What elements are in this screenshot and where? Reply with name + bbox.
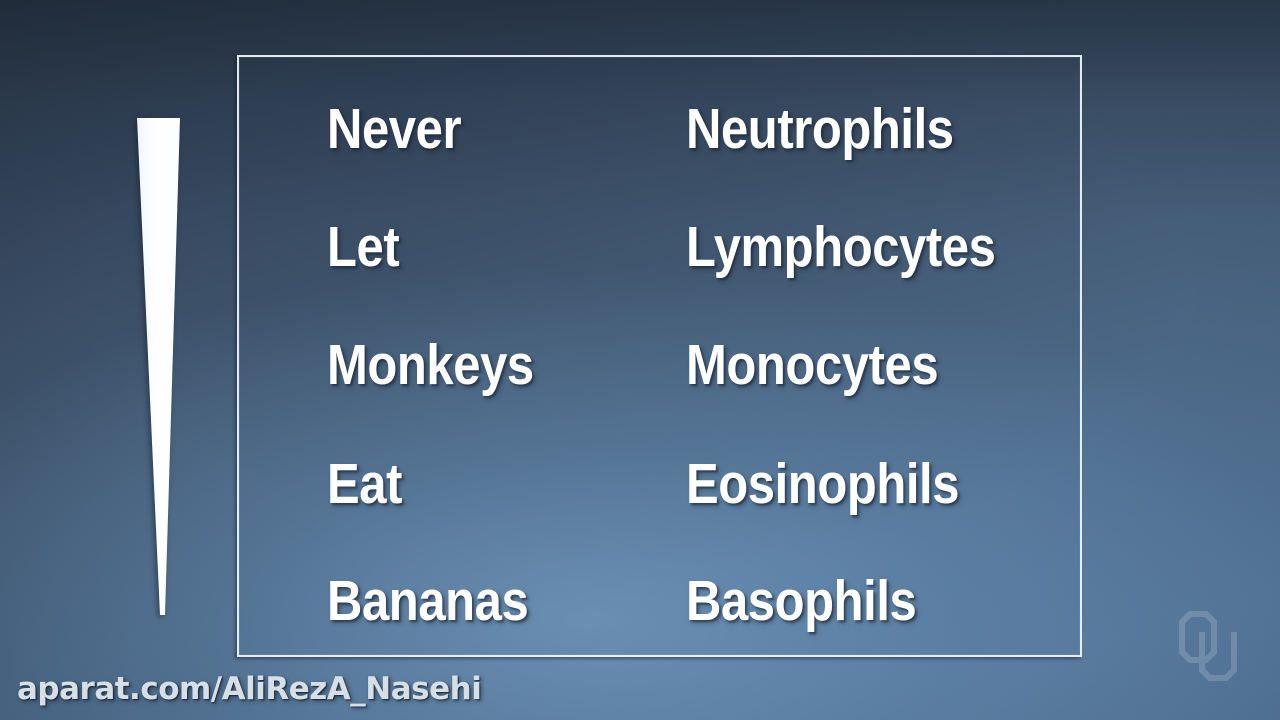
ou-logo-icon [1172, 606, 1244, 686]
table-row: Monkeys Monocytes [0, 334, 1280, 396]
mnemonic-table: Never Neutrophils Let Lymphocytes Monkey… [0, 0, 1280, 720]
cell-type-label: Eosinophils [686, 453, 959, 515]
mnemonic-word: Eat [327, 453, 402, 515]
cell-type-label: Basophils [686, 570, 916, 632]
cell-type-label: Lymphocytes [686, 216, 995, 278]
mnemonic-word: Let [327, 216, 399, 278]
cell-type-label: Monocytes [686, 334, 938, 396]
mnemonic-word: Monkeys [327, 334, 534, 396]
table-row: Never Neutrophils [0, 98, 1280, 160]
site-watermark: aparat.com/AliRezA_Nasehi [17, 669, 481, 709]
cell-type-label: Neutrophils [686, 98, 954, 160]
slide-canvas: Never Neutrophils Let Lymphocytes Monkey… [0, 0, 1280, 720]
mnemonic-word: Never [327, 98, 461, 160]
table-row: Let Lymphocytes [0, 216, 1280, 278]
mnemonic-word: Bananas [327, 570, 528, 632]
table-row: Eat Eosinophils [0, 453, 1280, 515]
table-row: Bananas Basophils [0, 570, 1280, 632]
